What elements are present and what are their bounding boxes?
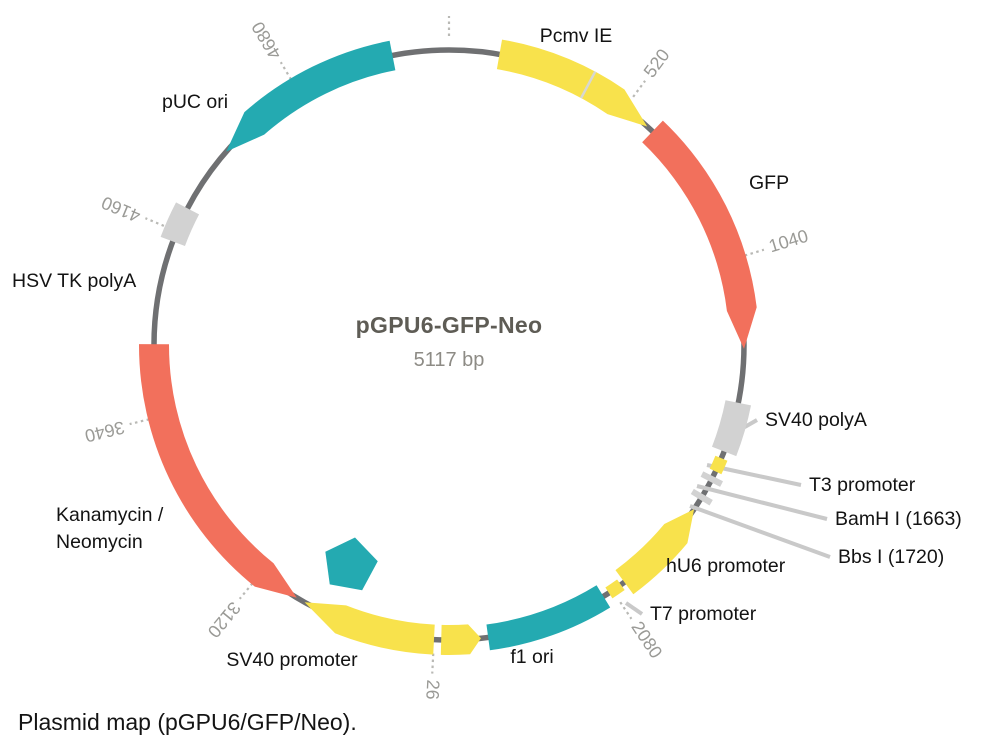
plasmid-diagram: 5201040208026003120364041604680 Pcmv IEG… xyxy=(0,0,982,700)
plasmid-size-label: 5117 bp xyxy=(414,349,485,371)
feature-hsv-tk-polya xyxy=(161,202,199,246)
center-text-group: pGPU6-GFP-Neo 5117 bp xyxy=(356,312,543,371)
feature-sv40-promoter xyxy=(305,602,435,654)
tick-label: 2600 xyxy=(421,679,443,700)
feature-label-kanamycin-neomycin: Kanamycin /Neomycin xyxy=(56,504,164,553)
tick-mark xyxy=(240,583,253,598)
feature-bbs-i-1720 xyxy=(691,489,713,506)
leader-line-t7-promoter xyxy=(626,603,642,614)
feature-label-pcmv-ie: Pcmv IE xyxy=(540,25,613,47)
feature-label-sv40-polya: SV40 polyA xyxy=(765,409,867,431)
feature-label-puc-ori: pUC ori xyxy=(162,91,228,113)
tick-mark xyxy=(432,654,433,674)
feature-unnamed-ccw-arrow xyxy=(441,624,481,655)
tick-mark xyxy=(281,62,291,79)
feature-label-hsv-tk-polya: HSV TK polyA xyxy=(12,270,136,292)
feature-kanamycin-neomycin xyxy=(139,344,297,598)
feature-label-bamh-i-1663: BamH I (1663) xyxy=(835,508,962,530)
tick-mark xyxy=(633,81,645,97)
feature-label-sv40-promoter: SV40 promoter xyxy=(226,649,358,671)
feature-label-t7-promoter: T7 promoter xyxy=(650,603,757,625)
tick-label: 3120 xyxy=(204,598,245,642)
feature-label-f1-ori: f1 ori xyxy=(510,646,553,668)
tick-label: 520 xyxy=(640,45,674,81)
feature-f1-ori xyxy=(486,585,610,650)
tick-label: 1040 xyxy=(766,226,810,257)
tick-mark xyxy=(130,419,149,424)
tick-label: 3640 xyxy=(83,417,127,446)
features-group xyxy=(139,40,757,655)
feature-internal-pentagon xyxy=(325,537,377,590)
feature-hu6-promoter xyxy=(615,509,694,594)
plasmid-title: pGPU6-GFP-Neo xyxy=(356,312,543,338)
feature-label-bbs-i-1720: Bbs I (1720) xyxy=(838,546,944,568)
figure-caption: Plasmid map (pGPU6/GFP/Neo). xyxy=(18,700,962,744)
feature-gfp xyxy=(642,121,757,349)
caption-text: Plasmid map (pGPU6/GFP/Neo). xyxy=(18,709,357,736)
plasmid-map: 5201040208026003120364041604680 Pcmv IEG… xyxy=(0,0,982,700)
feature-sv40-polya xyxy=(712,400,751,456)
tick-mark xyxy=(145,218,163,226)
feature-puc-ori xyxy=(226,41,395,152)
tick-label: 4160 xyxy=(99,192,144,226)
tick-label: 4680 xyxy=(248,18,286,63)
feature-label-gfp: GFP xyxy=(749,172,789,194)
feature-label-hu6-promoter: hU6 promoter xyxy=(666,555,786,577)
feature-pcmv-ie xyxy=(497,40,647,127)
tick-mark xyxy=(745,250,764,256)
feature-label-t3-promoter: T3 promoter xyxy=(809,474,916,496)
feature-t3-promoter xyxy=(710,456,728,475)
